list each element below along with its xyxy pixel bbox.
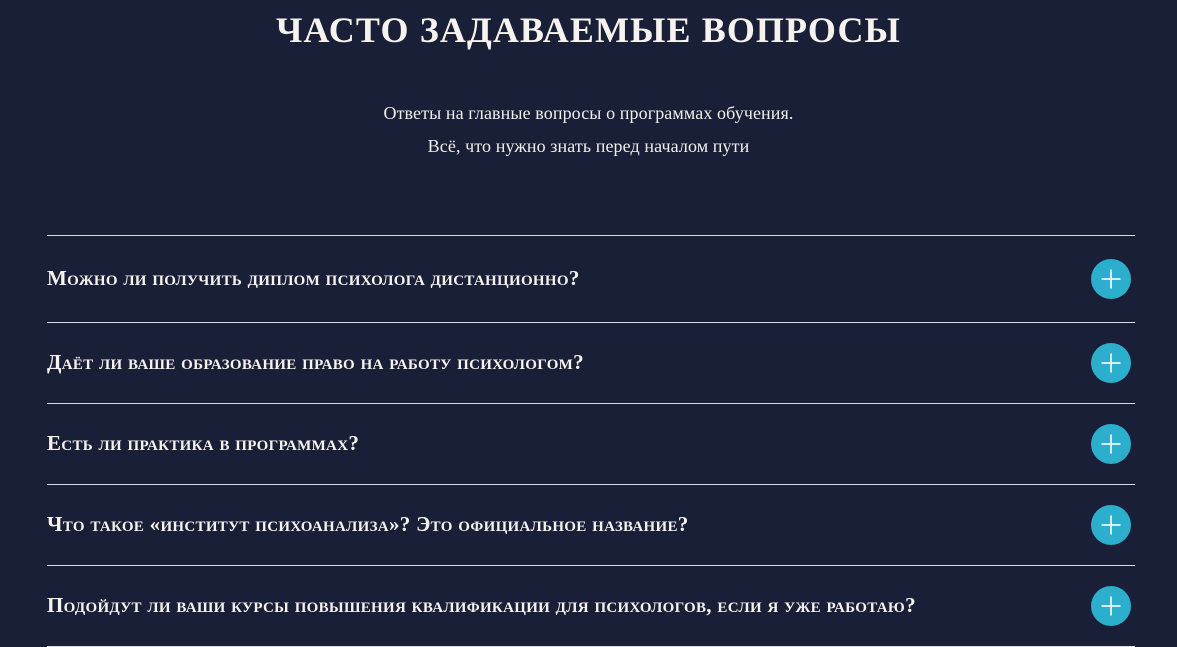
faq-question-label: Подойдут ли ваши курсы повышения квалифи… <box>47 593 1135 618</box>
faq-page: Часто задаваемые вопросы Ответы на главн… <box>0 0 1177 647</box>
faq-question-label: Что такое «институт психоанализа»? Это о… <box>47 512 1135 537</box>
plus-icon <box>1091 424 1131 464</box>
plus-icon <box>1091 259 1131 299</box>
faq-accordion: Можно ли получить диплом психолога диста… <box>47 235 1135 647</box>
faq-expand-button[interactable] <box>1091 343 1131 383</box>
page-title: Часто задаваемые вопросы <box>0 8 1177 52</box>
faq-expand-button[interactable] <box>1091 505 1131 545</box>
faq-item[interactable]: Подойдут ли ваши курсы повышения квалифи… <box>47 566 1135 647</box>
page-subtitle: Ответы на главные вопросы о программах о… <box>0 97 1177 163</box>
faq-item[interactable]: Можно ли получить диплом психолога диста… <box>47 236 1135 323</box>
subtitle-line-2: Всё, что нужно знать перед началом пути <box>0 130 1177 163</box>
faq-question-label: Можно ли получить диплом психолога диста… <box>47 266 1135 291</box>
plus-icon <box>1091 505 1131 545</box>
faq-expand-button[interactable] <box>1091 586 1131 626</box>
faq-expand-button[interactable] <box>1091 424 1131 464</box>
page-header: Часто задаваемые вопросы Ответы на главн… <box>0 0 1177 163</box>
faq-item[interactable]: Даёт ли ваше образование право на работу… <box>47 323 1135 404</box>
subtitle-line-1: Ответы на главные вопросы о программах о… <box>0 97 1177 130</box>
faq-question-label: Есть ли практика в программах? <box>47 431 1135 456</box>
faq-expand-button[interactable] <box>1091 259 1131 299</box>
faq-item[interactable]: Есть ли практика в программах? <box>47 404 1135 485</box>
plus-icon <box>1091 586 1131 626</box>
faq-item[interactable]: Что такое «институт психоанализа»? Это о… <box>47 485 1135 566</box>
plus-icon <box>1091 343 1131 383</box>
faq-question-label: Даёт ли ваше образование право на работу… <box>47 350 1135 375</box>
